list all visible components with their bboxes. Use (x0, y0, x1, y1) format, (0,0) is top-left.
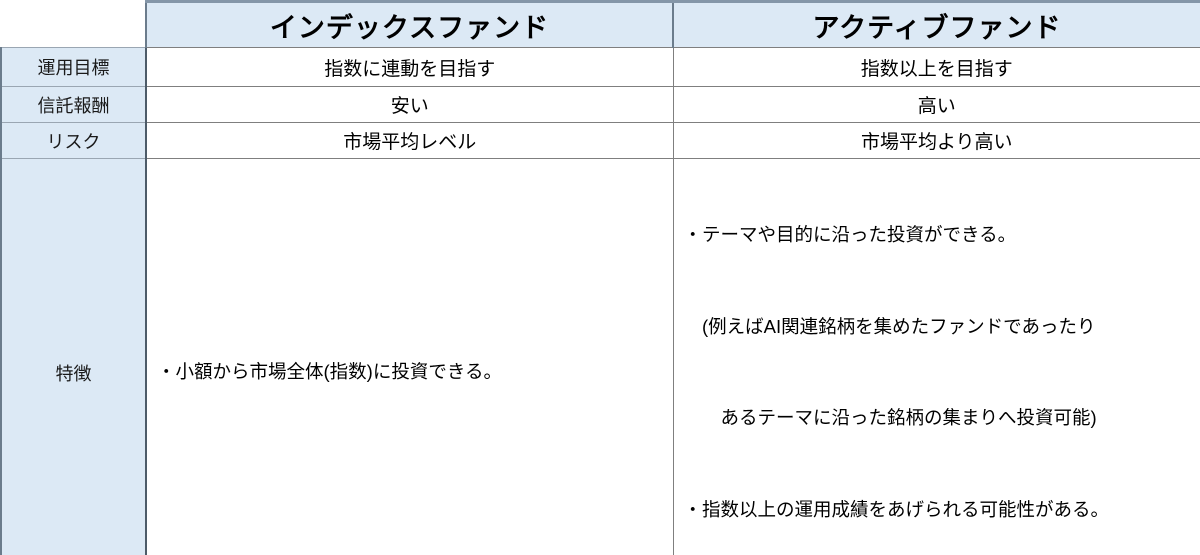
table-header-row: インデックスファンド アクティブファンド (1, 2, 1200, 48)
table-row-features: 特徴 ・小額から市場全体(指数)に投資できる。 ・テーマや目的に沿った投資ができ… (1, 159, 1200, 555)
fund-comparison-table: インデックスファンド アクティブファンド 運用目標 指数に連動を目指す 指数以上… (0, 0, 1200, 555)
cell-index-objective: 指数に連動を目指す (146, 48, 673, 87)
table-row: リスク 市場平均レベル 市場平均より高い (1, 123, 1200, 159)
header-corner-blank (1, 2, 146, 48)
cell-active-features: ・テーマや目的に沿った投資ができる。 (例えばAI関連銘柄を集めたファンドであっ… (673, 159, 1200, 555)
cell-index-fee: 安い (146, 87, 673, 123)
comparison-table-page: インデックスファンド アクティブファンド 運用目標 指数に連動を目指す 指数以上… (0, 0, 1200, 555)
row-label-fee: 信託報酬 (1, 87, 146, 123)
cell-index-risk: 市場平均レベル (146, 123, 673, 159)
feature-line: ・小額から市場全体(指数)に投資できる。 (157, 357, 663, 388)
active-features-list: ・テーマや目的に沿った投資ができる。 (例えばAI関連銘柄を集めたファンドであっ… (684, 159, 1191, 555)
table-row: 信託報酬 安い 高い (1, 87, 1200, 123)
feature-line: ・指数以上の運用成績をあげられる可能性がある。 (684, 495, 1191, 526)
cell-active-risk: 市場平均より高い (673, 123, 1200, 159)
header-index-fund: インデックスファンド (146, 2, 673, 48)
cell-index-features: ・小額から市場全体(指数)に投資できる。 (146, 159, 673, 555)
row-label-risk: リスク (1, 123, 146, 159)
table-row: 運用目標 指数に連動を目指す 指数以上を目指す (1, 48, 1200, 87)
row-label-objective: 運用目標 (1, 48, 146, 87)
feature-line: ・テーマや目的に沿った投資ができる。 (684, 220, 1191, 251)
cell-active-fee: 高い (673, 87, 1200, 123)
header-active-fund: アクティブファンド (673, 2, 1200, 48)
feature-line: (例えばAI関連銘柄を集めたファンドであったり (684, 312, 1191, 343)
cell-active-objective: 指数以上を目指す (673, 48, 1200, 87)
index-features-list: ・小額から市場全体(指数)に投資できる。 (157, 296, 663, 449)
feature-line: あるテーマに沿った銘柄の集まりへ投資可能) (684, 403, 1191, 434)
row-label-features: 特徴 (1, 159, 146, 555)
